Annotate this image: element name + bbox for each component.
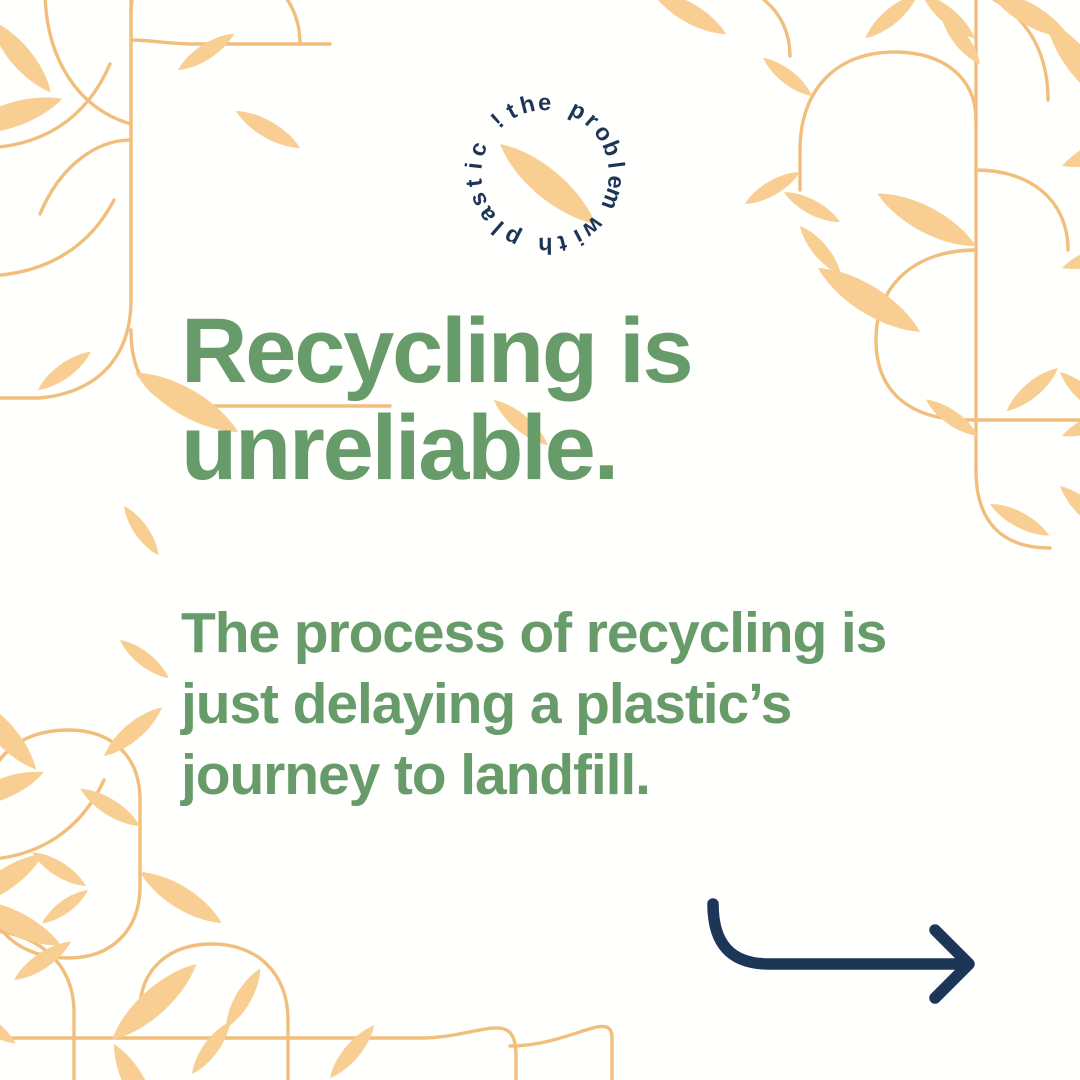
logo-char: c — [463, 138, 492, 159]
poster-canvas: theproblemwithplastic! Recycling is unre… — [0, 0, 1080, 1080]
logo-char: i — [460, 161, 487, 170]
logo-char: t — [555, 230, 569, 257]
arrow-shaft — [713, 904, 961, 964]
logo-char: ! — [486, 108, 509, 133]
logo-char: t — [460, 177, 487, 188]
logo-char: e — [538, 89, 551, 115]
the-problem-with-plastic-badge: theproblemwithplastic! — [443, 72, 647, 276]
body-paragraph: The process of recycling is just delayin… — [181, 598, 1011, 811]
logo-char: h — [517, 90, 537, 119]
logo-char: h — [538, 233, 552, 259]
logo-char: t — [502, 97, 521, 124]
page-title: Recycling is unreliable. — [181, 303, 981, 497]
swipe-right-arrow[interactable] — [695, 888, 995, 1018]
logo-char: l — [603, 160, 630, 170]
logo-circular-text: theproblemwithplastic! — [460, 89, 630, 259]
